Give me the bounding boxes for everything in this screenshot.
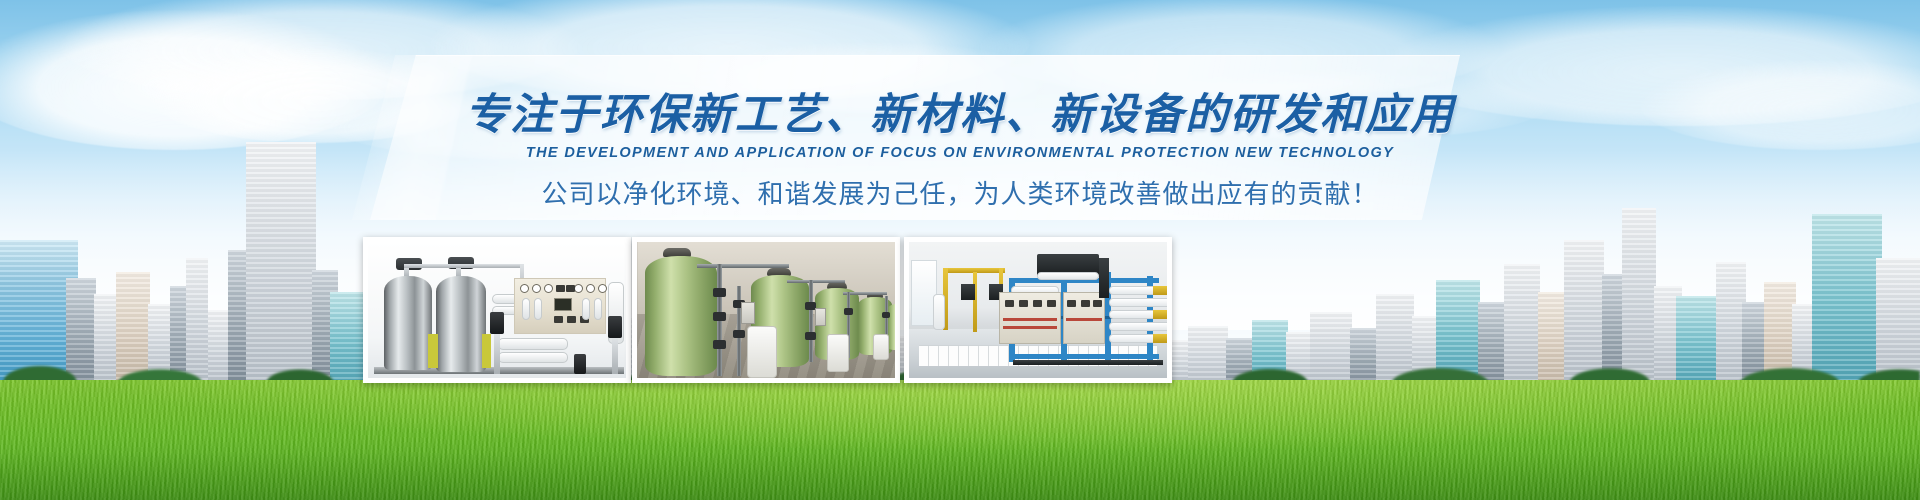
photo-card-stainless-steel-water-treatment-system[interactable]	[363, 237, 631, 383]
banner-tagline: 公司以净化环境、和谐发展为己任，为人类环境改善做出应有的贡献！	[0, 174, 1920, 211]
banner-subheadline-english: THE DEVELOPMENT AND APPLICATION OF FOCUS…	[0, 145, 1920, 161]
banner-headline: 专注于环保新工艺、新材料、新设备的研发和应用	[0, 92, 1920, 138]
photo-card-reverse-osmosis-membrane-plant[interactable]	[904, 237, 1172, 383]
photo-1-image	[368, 242, 626, 378]
banner-text-block: 专注于环保新工艺、新材料、新设备的研发和应用 THE DEVELOPMENT A…	[0, 92, 1920, 211]
hero-banner: 专注于环保新工艺、新材料、新设备的研发和应用 THE DEVELOPMENT A…	[0, 0, 1920, 500]
photo-card-green-frp-filter-tank-array[interactable]	[632, 237, 900, 383]
photo-2-image	[637, 242, 895, 378]
green-lawn	[0, 380, 1920, 500]
photo-3-image	[909, 242, 1167, 378]
photo-strip	[0, 237, 1920, 387]
